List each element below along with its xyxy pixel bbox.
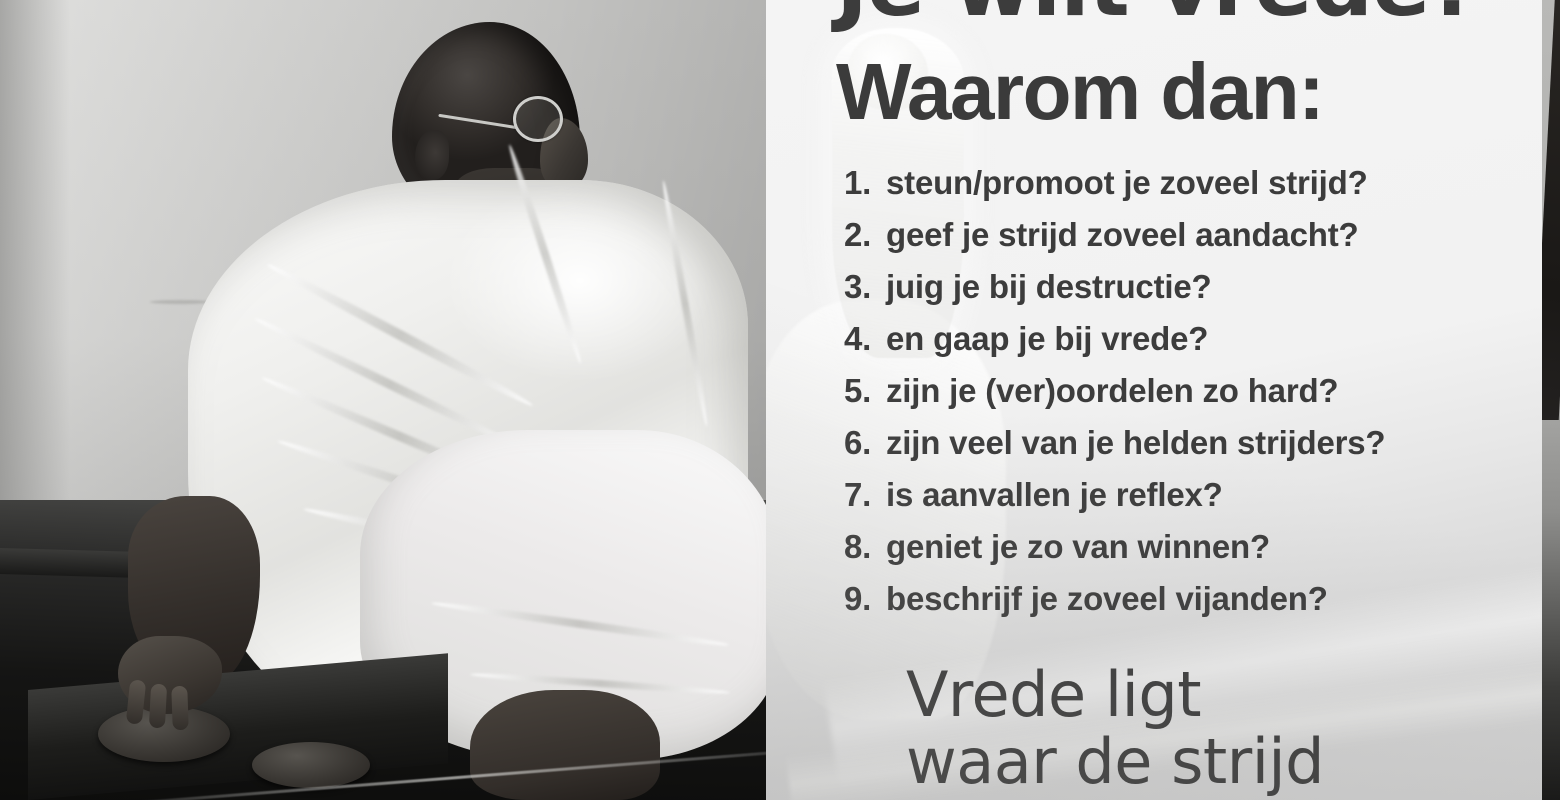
list-item-number: 8.: [844, 530, 886, 563]
list-item-label: en gaap je bij vrede?: [886, 320, 1208, 357]
list-item: 7.is aanvallen je reflex?: [844, 478, 1544, 530]
gandhi-photo-panel: [0, 0, 766, 800]
list-item-label: geef je strijd zoveel aandacht?: [886, 216, 1358, 253]
list-item: 2.geef je strijd zoveel aandacht?: [844, 218, 1544, 270]
leg: [470, 690, 660, 800]
wall-scuff: [150, 300, 210, 304]
list-item-label: zijn je (ver)oordelen zo hard?: [886, 372, 1338, 409]
wall-corner-shadow: [0, 0, 70, 560]
list-item-number: 7.: [844, 478, 886, 511]
list-item: 8.geniet je zo van winnen?: [844, 530, 1544, 582]
list-item-label: beschrijf je zoveel vijanden?: [886, 580, 1328, 617]
list-item: 1.steun/promoot je zoveel strijd?: [844, 166, 1544, 218]
list-item-label: juig je bij destructie?: [886, 268, 1211, 305]
closing-line-2: waar de strijd: [906, 729, 1324, 796]
list-item: 5.zijn je (ver)oordelen zo hard?: [844, 374, 1544, 426]
spectacles-lens-icon: [513, 96, 563, 142]
headline-cropped: Je wilt vrede?: [836, 0, 1536, 36]
poster-image: Je wilt vrede? Waarom dan: 1.steun/promo…: [0, 0, 1560, 800]
list-item-number: 1.: [844, 166, 886, 199]
right-edge-strip: [1542, 0, 1560, 800]
grinding-stone: [252, 742, 370, 788]
subheading: Waarom dan:: [836, 52, 1323, 132]
list-item: 6.zijn veel van je helden strijders?: [844, 426, 1544, 478]
list-item-label: zijn veel van je helden strijders?: [886, 424, 1385, 461]
list-item-label: is aanvallen je reflex?: [886, 476, 1223, 513]
question-list: 1.steun/promoot je zoveel strijd? 2.geef…: [844, 166, 1544, 634]
closing-statement: Vrede ligt waar de strijd: [906, 662, 1324, 796]
finger: [171, 686, 189, 731]
right-edge-dark-shape: [1542, 0, 1560, 420]
list-item-number: 9.: [844, 582, 886, 615]
list-item-number: 5.: [844, 374, 886, 407]
list-item-number: 4.: [844, 322, 886, 355]
list-item: 3.juig je bij destructie?: [844, 270, 1544, 322]
text-panel: Je wilt vrede? Waarom dan: 1.steun/promo…: [766, 0, 1560, 800]
closing-line-1: Vrede ligt: [906, 662, 1324, 729]
list-item-number: 3.: [844, 270, 886, 303]
list-item-number: 6.: [844, 426, 886, 459]
finger: [149, 684, 167, 729]
list-item: 4.en gaap je bij vrede?: [844, 322, 1544, 374]
list-item-label: geniet je zo van winnen?: [886, 528, 1270, 565]
list-item: 9.beschrijf je zoveel vijanden?: [844, 582, 1544, 634]
list-item-number: 2.: [844, 218, 886, 251]
list-item-label: steun/promoot je zoveel strijd?: [886, 164, 1368, 201]
ear: [415, 130, 449, 180]
